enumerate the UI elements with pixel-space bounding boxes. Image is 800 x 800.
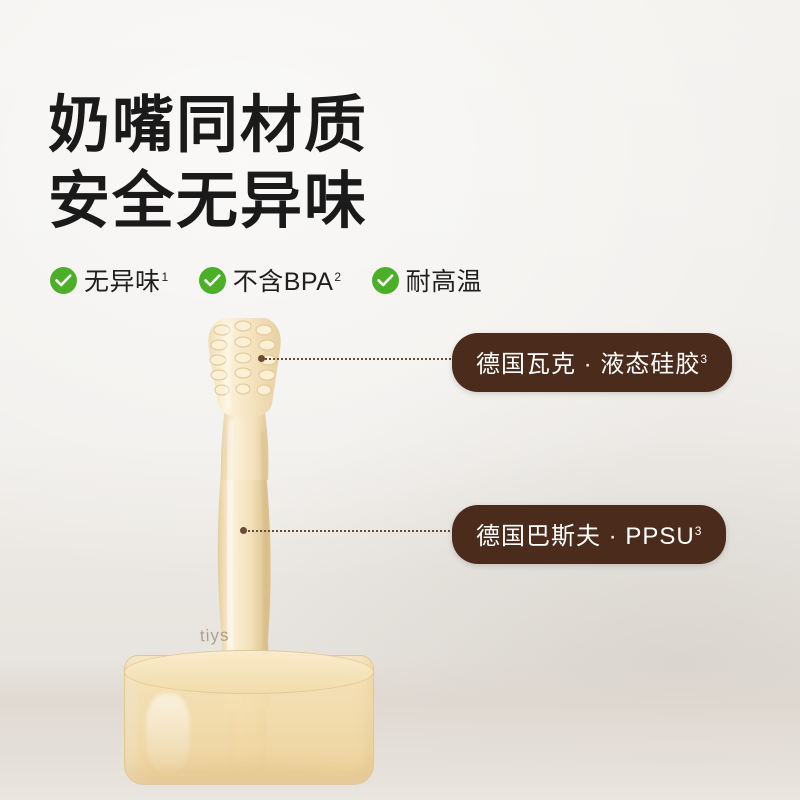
feature-label: 耐高温 bbox=[406, 262, 484, 298]
callout-footnote: 3 bbox=[695, 524, 703, 538]
brush-head bbox=[208, 318, 280, 418]
leader-line-silicone bbox=[262, 358, 454, 360]
feature-footnote: 2 bbox=[334, 270, 341, 284]
leader-dot-ppsu bbox=[240, 527, 247, 534]
product-photo-scene: 奶嘴同材质 安全无异味 无异味1 不含BPA2 bbox=[0, 0, 800, 800]
brand-text: tiys bbox=[200, 625, 230, 646]
check-icon bbox=[50, 267, 77, 294]
headline-line-1: 奶嘴同材质 bbox=[48, 91, 368, 160]
callout-silicone: 德国瓦克 · 液态硅胶3 bbox=[452, 333, 732, 392]
leader-dot-silicone bbox=[258, 355, 265, 362]
callout-ppsu: 德国巴斯夫 · PPSU3 bbox=[452, 505, 726, 564]
feature-label: 不含BPA2 bbox=[233, 262, 342, 298]
feature-item-heat-resistant: 耐高温 bbox=[372, 262, 484, 298]
headline-line-2: 安全无异味 bbox=[48, 164, 368, 240]
cup-rim bbox=[124, 650, 374, 694]
check-icon bbox=[199, 267, 226, 294]
feature-list: 无异味1 不含BPA2 耐高温 bbox=[50, 262, 483, 298]
leader-line-ppsu bbox=[244, 530, 454, 532]
feature-item-no-odor: 无异味1 bbox=[50, 262, 169, 298]
feature-item-bpa-free: 不含BPA2 bbox=[199, 262, 342, 298]
feature-label: 无异味1 bbox=[84, 262, 169, 298]
feature-footnote: 1 bbox=[162, 270, 169, 284]
check-icon bbox=[372, 267, 399, 294]
callout-footnote: 3 bbox=[700, 352, 708, 366]
headline: 奶嘴同材质 安全无异味 bbox=[48, 88, 368, 240]
brush-neck bbox=[221, 400, 269, 480]
cup-gloss-highlight bbox=[146, 694, 190, 772]
head-highlight bbox=[227, 322, 231, 410]
